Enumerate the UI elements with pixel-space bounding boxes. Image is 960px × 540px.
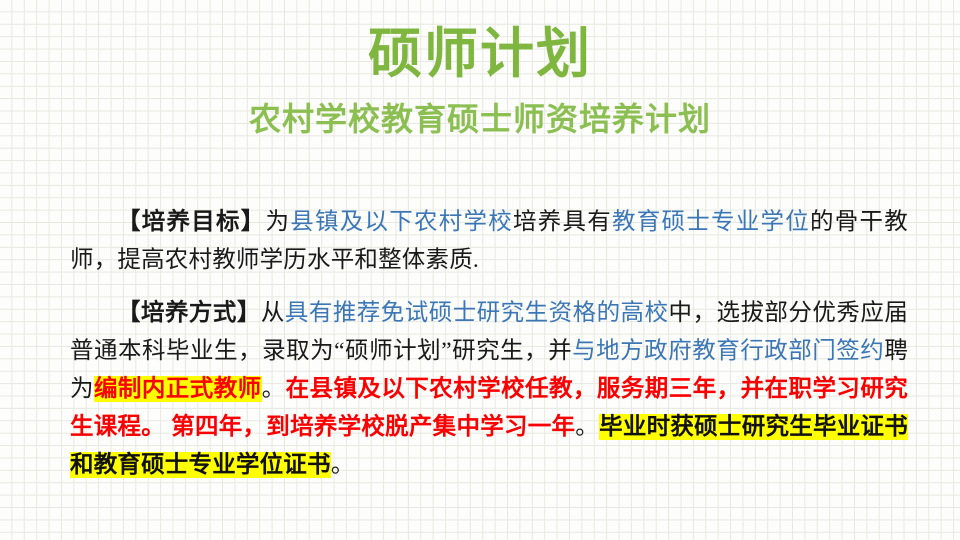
page-title: 硕师计划	[0, 22, 960, 86]
body-content: 【培养目标】为县镇及以下农村学校培养具有教育硕士专业学位的骨干教师，提高农村教师…	[70, 203, 908, 484]
run-method-9: 。	[575, 414, 599, 440]
run-goal-0: 为	[266, 209, 291, 235]
title-block: 硕师计划 农村学校教育硕士师资培养计划	[0, 0, 960, 138]
run-method-8: 第四年，到培养学校脱产集中学习一年	[165, 414, 575, 440]
run-goal-3: 教育硕士专业学位	[612, 209, 810, 235]
run-method-5-highlighted: 编制内正式教师	[94, 376, 262, 402]
page-subtitle: 农村学校教育硕士师资培养计划	[0, 100, 960, 138]
run-method-11: 。	[331, 452, 355, 478]
run-method-3: 与地方政府教育行政部门签约	[572, 338, 884, 364]
paragraph-training-method: 【培养方式】从具有推荐免试硕士研究生资格的高校中，选拔部分优秀应届普通本科毕业生…	[70, 294, 908, 484]
paragraph-lead-training-method: 【培养方式】	[117, 300, 261, 326]
run-method-1: 具有推荐免试硕士研究生资格的高校	[285, 300, 669, 326]
run-goal-1: 县镇及以下农村学校	[290, 209, 513, 235]
run-goal-2: 培养具有	[513, 209, 612, 235]
run-method-0: 从	[261, 300, 285, 326]
paragraph-training-goal: 【培养目标】为县镇及以下农村学校培养具有教育硕士专业学位的骨干教师，提高农村教师…	[70, 203, 908, 279]
paragraph-lead-training-goal: 【培养目标】	[117, 209, 266, 235]
run-method-6: 。	[262, 376, 286, 402]
slide-canvas: 硕师计划 农村学校教育硕士师资培养计划 【培养目标】为县镇及以下农村学校培养具有…	[0, 0, 960, 540]
